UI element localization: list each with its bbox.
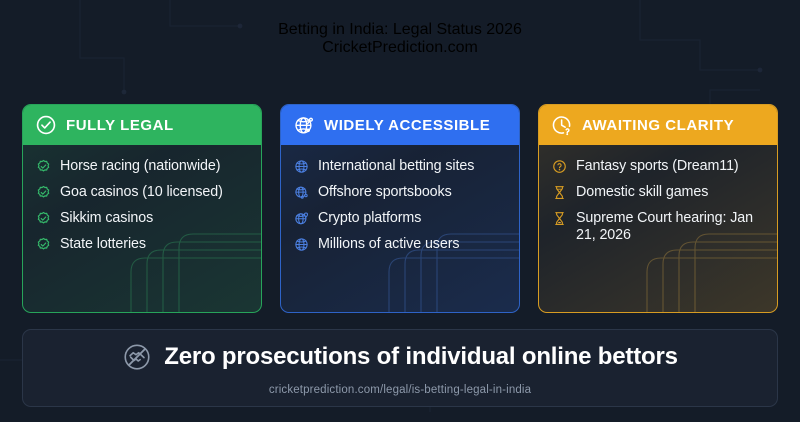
bottom-banner: Zero prosecutions of individual online b… <box>22 329 778 407</box>
list-item-label: State lotteries <box>60 236 146 253</box>
list-item[interactable]: Sikkim casinos <box>36 210 252 227</box>
globe-network-icon <box>293 114 315 136</box>
list-item[interactable]: State lotteries <box>36 236 252 253</box>
card-header-label: AWAITING CLARITY <box>582 117 734 134</box>
card-header-awaiting-clarity: AWAITING CLARITY <box>539 105 777 145</box>
badge-check-icon <box>36 237 51 252</box>
list-item-label: Millions of active users <box>318 236 459 253</box>
page-title: Betting in India: Legal Status 2026 <box>0 21 800 39</box>
list-item-label: Crypto platforms <box>318 210 421 227</box>
globe-icon <box>294 237 309 252</box>
list-item-label: Sikkim casinos <box>60 210 153 227</box>
list-item[interactable]: Offshore sportsbooks <box>294 184 510 201</box>
banner-headline: Zero prosecutions of individual online b… <box>164 343 678 371</box>
card-widely-accessible[interactable]: WIDELY ACCESSIBLE International betting … <box>280 104 520 313</box>
card-header-widely-accessible: WIDELY ACCESSIBLE <box>281 105 519 145</box>
header: Betting in India: Legal Status 2026 Cric… <box>0 0 800 57</box>
card-item-list-fully-legal: Horse racing (nationwide) Goa casinos (1… <box>23 145 261 252</box>
list-item[interactable]: Supreme Court hearing: Jan 21, 2026 <box>552 210 768 244</box>
globe-pin-icon <box>294 211 309 226</box>
list-item-label: Domestic skill games <box>576 184 708 201</box>
card-awaiting-clarity[interactable]: AWAITING CLARITY Fantasy sports (Dream11… <box>538 104 778 313</box>
badge-check-icon <box>36 185 51 200</box>
clock-question-icon <box>551 114 573 136</box>
banner-source-url: cricketprediction.com/legal/is-betting-l… <box>23 384 777 396</box>
page-subtitle: CricketPrediction.com <box>0 39 800 57</box>
banner-headline-row: Zero prosecutions of individual online b… <box>23 330 777 372</box>
list-item[interactable]: Fantasy sports (Dream11) <box>552 158 768 175</box>
card-item-list-awaiting-clarity: Fantasy sports (Dream11) Domestic skill … <box>539 145 777 243</box>
list-item[interactable]: International betting sites <box>294 158 510 175</box>
no-handshake-icon <box>122 342 152 372</box>
hourglass-icon <box>552 211 567 226</box>
list-item-label: Goa casinos (10 licensed) <box>60 184 223 201</box>
list-item[interactable]: Horse racing (nationwide) <box>36 158 252 175</box>
globe-nodes-icon <box>294 185 309 200</box>
list-item[interactable]: Domestic skill games <box>552 184 768 201</box>
list-item-label: International betting sites <box>318 158 474 175</box>
list-item[interactable]: Millions of active users <box>294 236 510 253</box>
list-item-label: Supreme Court hearing: Jan 21, 2026 <box>576 210 768 244</box>
card-header-label: FULLY LEGAL <box>66 117 174 134</box>
list-item[interactable]: Goa casinos (10 licensed) <box>36 184 252 201</box>
list-item-label: Offshore sportsbooks <box>318 184 452 201</box>
question-circle-icon <box>552 159 567 174</box>
badge-check-icon <box>36 159 51 174</box>
card-fully-legal[interactable]: FULLY LEGAL Horse racing (nationwide) Go… <box>22 104 262 313</box>
list-item-label: Horse racing (nationwide) <box>60 158 220 175</box>
list-item[interactable]: Crypto platforms <box>294 210 510 227</box>
status-cards-row: FULLY LEGAL Horse racing (nationwide) Go… <box>22 104 778 313</box>
card-item-list-widely-accessible: International betting sites Offshore spo… <box>281 145 519 252</box>
check-circle-icon <box>35 114 57 136</box>
badge-check-icon <box>36 211 51 226</box>
card-header-label: WIDELY ACCESSIBLE <box>324 117 490 134</box>
list-item-label: Fantasy sports (Dream11) <box>576 158 739 175</box>
globe-icon <box>294 159 309 174</box>
hourglass-icon <box>552 185 567 200</box>
card-header-fully-legal: FULLY LEGAL <box>23 105 261 145</box>
